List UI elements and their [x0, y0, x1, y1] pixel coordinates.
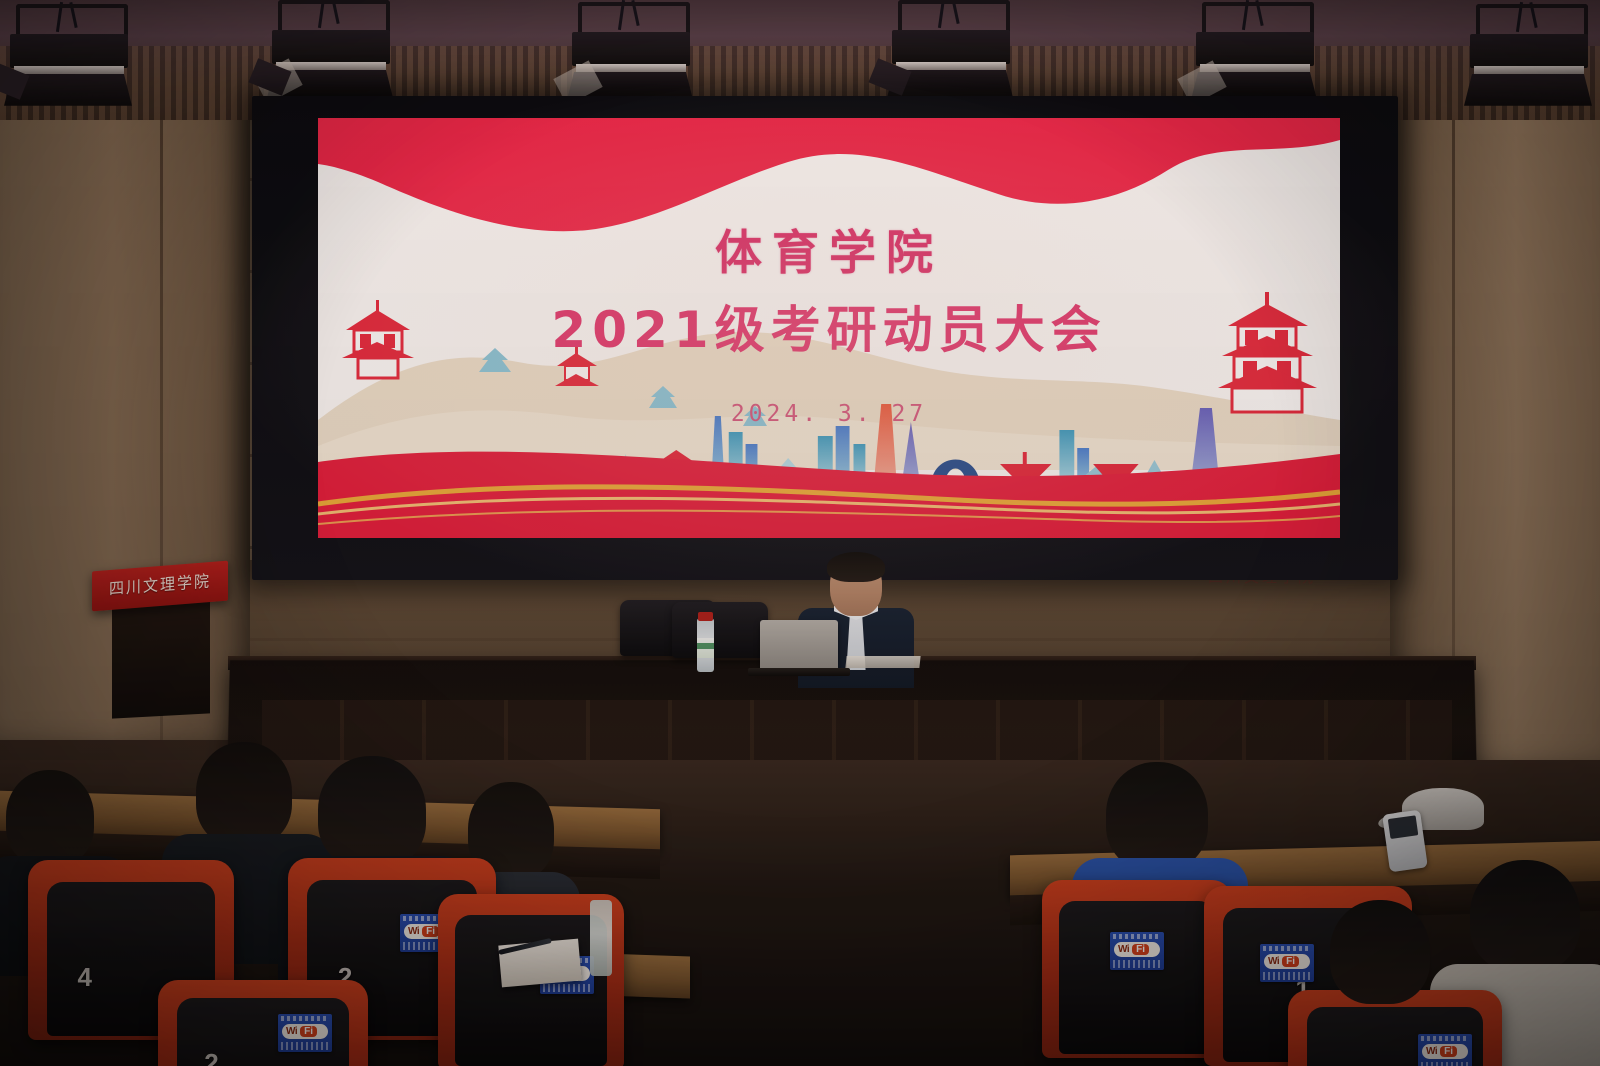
wifi-sticker-fi-text: Fi: [1440, 1046, 1457, 1057]
auditorium-seat[interactable]: 2 Wi Fi: [158, 980, 368, 1066]
bottle-label: [697, 638, 714, 658]
slide-date: 2024. 3. 27: [318, 401, 1340, 427]
wifi-sticker-fi-text: Fi: [1282, 956, 1299, 967]
audience-water-bottle: [590, 900, 612, 976]
bottle-cap: [698, 612, 713, 621]
slide-subtitle: 2021级考研动员大会: [318, 290, 1340, 362]
notebook: [498, 939, 581, 988]
auditorium-photo: 四川文理学院: [0, 0, 1600, 1066]
wifi-sticker-fi-text: Fi: [300, 1026, 317, 1037]
stage-chair: [672, 602, 768, 658]
presentation-slide: 体育学院 2021级考研动员大会 2024. 3. 27: [318, 118, 1340, 538]
wifi-sticker-fi-text: Fi: [1132, 944, 1149, 955]
wifi-sticker-wi-text: Wi: [1268, 956, 1279, 967]
wifi-sticker: Wi Fi: [1418, 1034, 1472, 1066]
wifi-sticker-fi-text: Fi: [422, 926, 439, 937]
documents: [845, 656, 920, 668]
laptop-base: [748, 668, 850, 676]
slide-bottom-wave-icon: [318, 418, 1340, 538]
wifi-sticker-wi-text: Wi: [408, 926, 419, 937]
wifi-sticker: Wi Fi: [1110, 932, 1164, 970]
wifi-sticker-wi-text: Wi: [1426, 1046, 1437, 1057]
seat-number: 2: [204, 1048, 219, 1066]
smartphone: [1382, 810, 1428, 873]
slide-title: 体育学院: [318, 214, 1340, 283]
lectern-podium: 四川文理学院: [92, 566, 228, 716]
laptop-computer: [760, 620, 838, 670]
wifi-sticker: Wi Fi: [1260, 944, 1314, 982]
wifi-sticker-wi-text: Wi: [1118, 944, 1129, 955]
projection-screen-frame: 体育学院 2021级考研动员大会 2024. 3. 27: [252, 96, 1398, 580]
seat-number: 4: [77, 962, 92, 993]
wifi-sticker: Wi Fi: [278, 1014, 332, 1052]
wifi-sticker-wi-text: Wi: [286, 1026, 297, 1037]
